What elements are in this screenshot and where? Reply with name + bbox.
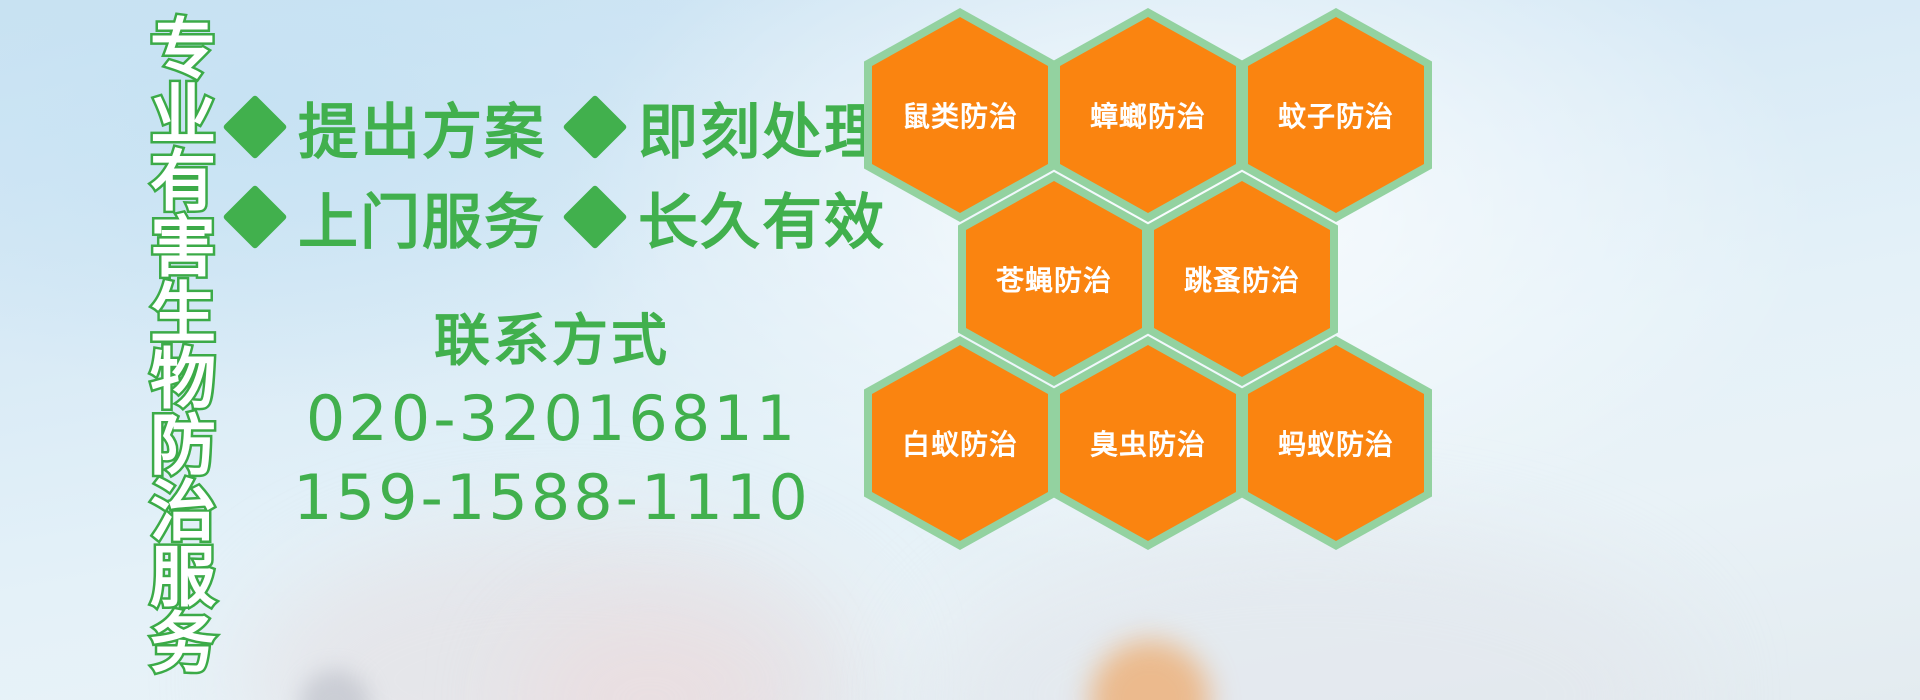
background-grey-blob [300, 670, 370, 700]
feature-item-propose-plan: 提出方案 [232, 84, 546, 171]
service-label: 蟑螂防治 [1090, 95, 1206, 135]
background-haze-center [520, 610, 780, 700]
contact-block: 联系方式 020-32016811 159-1588-1110 [232, 306, 872, 538]
service-label: 苍蝇防治 [996, 259, 1112, 299]
service-label: 白蚁防治 [902, 423, 1018, 463]
diamond-bullet-icon [562, 184, 627, 249]
diamond-bullet-icon [562, 94, 627, 159]
pest-control-banner: 专业有害生物防治服务 提出方案 即刻处理 上门服务 长久有效 联 [0, 0, 1920, 700]
contact-title: 联系方式 [232, 306, 872, 379]
feature-list: 提出方案 即刻处理 上门服务 长久有效 [232, 82, 872, 262]
diamond-bullet-icon [222, 94, 287, 159]
feature-label: 上门服务 [298, 174, 546, 261]
feature-label: 即刻处理 [638, 84, 886, 171]
feature-item-long-lasting: 长久有效 [572, 174, 886, 261]
vertical-headline: 专业有害生物防治服务 [104, 14, 210, 674]
feature-row: 上门服务 长久有效 [232, 172, 872, 262]
feature-item-immediate-handling: 即刻处理 [572, 84, 886, 171]
contact-phone-mobile[interactable]: 159-1588-1110 [232, 458, 872, 537]
service-label: 臭虫防治 [1090, 423, 1206, 463]
service-label: 蚊子防治 [1278, 95, 1394, 135]
background-haze-right [930, 530, 1690, 700]
service-hexagon-grid: 鼠类防治 蟑螂防治 蚊子防治 苍蝇防治 跳蚤防治 白蚁防治 臭虫防治 蚂蚁 [862, 2, 1442, 552]
background-orange-blob [1090, 640, 1210, 700]
service-label: 跳蚤防治 [1184, 259, 1300, 299]
contact-phone-landline[interactable]: 020-32016811 [232, 379, 872, 458]
service-label: 鼠类防治 [902, 95, 1018, 135]
feature-label: 提出方案 [298, 84, 546, 171]
feature-item-door-service: 上门服务 [232, 174, 546, 261]
service-label: 蚂蚁防治 [1278, 423, 1394, 463]
diamond-bullet-icon [222, 184, 287, 249]
feature-label: 长久有效 [638, 174, 886, 261]
feature-row: 提出方案 即刻处理 [232, 82, 872, 172]
